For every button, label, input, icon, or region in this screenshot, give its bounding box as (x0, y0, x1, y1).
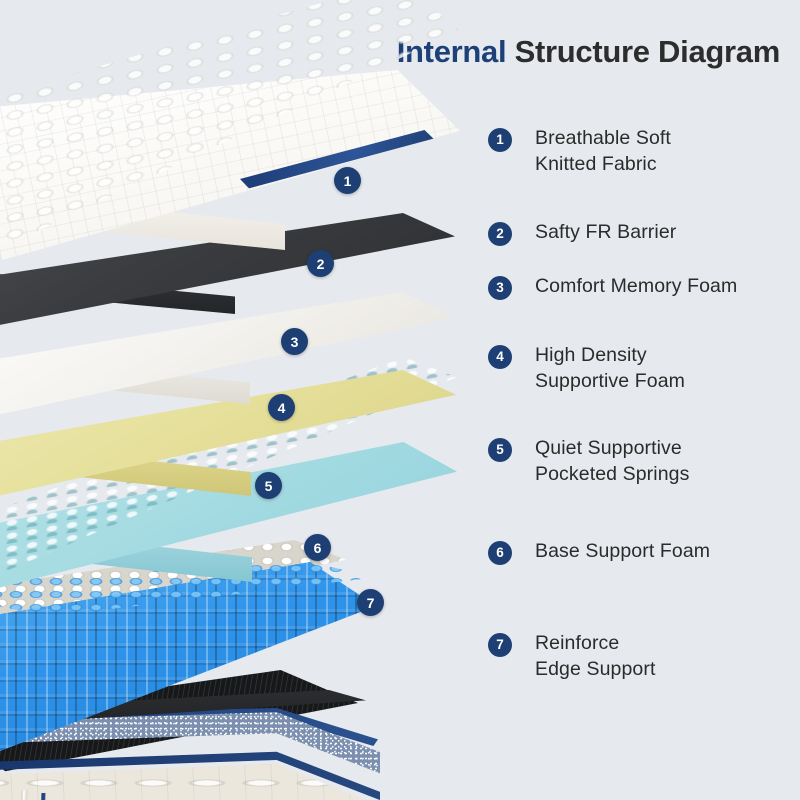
callout-badge-2[interactable]: 2 (307, 250, 334, 277)
legend-item-2[interactable]: 2Safty FR Barrier (488, 222, 676, 246)
legend-item-6[interactable]: 6Base Support Foam (488, 541, 710, 565)
legend-label-1: Breathable Soft Knitted Fabric (535, 125, 671, 177)
mattress-cutaway-diagram (0, 70, 500, 800)
callout-badge-4[interactable]: 4 (268, 394, 295, 421)
callout-badge-7[interactable]: 7 (357, 589, 384, 616)
legend-label-2: Safty FR Barrier (535, 219, 676, 245)
callout-badge-5[interactable]: 5 (255, 472, 282, 499)
legend-label-6: Base Support Foam (535, 538, 710, 564)
legend-label-4: High Density Supportive Foam (535, 342, 685, 394)
legend-badge-3: 3 (488, 276, 512, 300)
diagram-page: Internal Structure Diagram (0, 0, 800, 800)
legend-badge-5: 5 (488, 438, 512, 462)
legend-label-3: Comfort Memory Foam (535, 273, 737, 299)
legend-badge-1: 1 (488, 128, 512, 152)
legend-item-5[interactable]: 5Quiet Supportive Pocketed Springs (488, 438, 689, 487)
callout-badge-3[interactable]: 3 (281, 328, 308, 355)
knitted-fabric-layer (0, 70, 460, 260)
legend-label-5: Quiet Supportive Pocketed Springs (535, 435, 689, 487)
legend-badge-6: 6 (488, 541, 512, 565)
legend-badge-4: 4 (488, 345, 512, 369)
legend-badge-2: 2 (488, 222, 512, 246)
legend-item-3[interactable]: 3Comfort Memory Foam (488, 276, 737, 300)
legend-item-4[interactable]: 4High Density Supportive Foam (488, 345, 685, 394)
legend-item-7[interactable]: 7Reinforce Edge Support (488, 633, 655, 682)
legend-label-7: Reinforce Edge Support (535, 630, 655, 682)
legend-item-1[interactable]: 1Breathable Soft Knitted Fabric (488, 128, 671, 177)
callout-badge-1[interactable]: 1 (334, 167, 361, 194)
callout-badge-6[interactable]: 6 (304, 534, 331, 561)
page-title-part-2: Structure Diagram (515, 34, 780, 69)
legend-badge-7: 7 (488, 633, 512, 657)
legend-list: 1Breathable Soft Knitted Fabric2Safty FR… (488, 100, 793, 720)
